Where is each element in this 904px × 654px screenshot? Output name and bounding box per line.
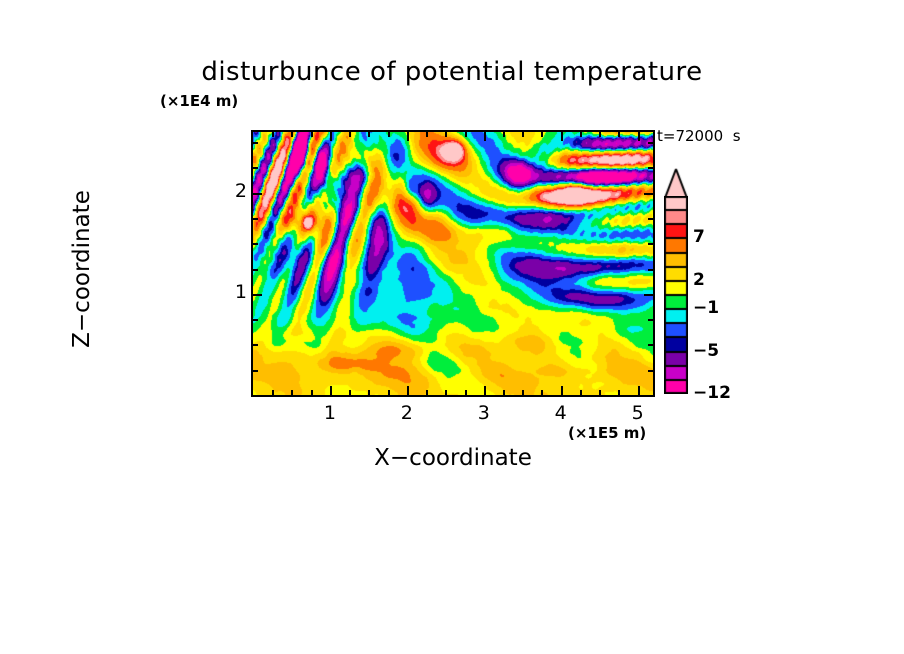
y-minor-tick (648, 167, 653, 169)
y-tick-label: 1 (217, 281, 247, 303)
y-axis-title: Z−coordinate (69, 149, 95, 389)
x-major-tick (484, 132, 486, 141)
colorbar-tick-label: −12 (693, 383, 731, 403)
y-minor-tick (648, 218, 653, 220)
y-minor-tick (253, 243, 258, 245)
x-minor-tick (291, 390, 293, 395)
timestamp-label: t=72000 s (657, 127, 741, 145)
y-minor-tick (253, 218, 258, 220)
x-major-tick (561, 132, 563, 141)
x-minor-tick (503, 390, 505, 395)
x-minor-tick (580, 390, 582, 395)
y-minor-tick (648, 142, 653, 144)
colorbar-tick-label: 2 (693, 270, 705, 290)
x-minor-tick (349, 132, 351, 137)
y-minor-tick (648, 269, 653, 271)
page-title: disturbunce of potential temperature (0, 57, 904, 87)
x-axis-title: X−coordinate (253, 445, 653, 471)
x-minor-tick (618, 390, 620, 395)
x-minor-tick (291, 132, 293, 137)
y-minor-tick (648, 319, 653, 321)
z-axis-unit-label: (×1E4 m) (160, 92, 238, 110)
x-minor-tick (618, 132, 620, 137)
x-minor-tick (388, 390, 390, 395)
colorbar (664, 196, 688, 394)
y-minor-tick (253, 142, 258, 144)
x-minor-tick (599, 390, 601, 395)
x-minor-tick (368, 132, 370, 137)
colorbar-tick-label: −5 (693, 341, 719, 361)
x-major-tick (638, 132, 640, 141)
x-minor-tick (445, 132, 447, 137)
colorbar-arrow-top (664, 168, 688, 198)
x-tick-label: 5 (618, 402, 658, 424)
x-minor-tick (503, 132, 505, 137)
x-minor-tick (522, 132, 524, 137)
x-minor-tick (349, 390, 351, 395)
y-major-tick (253, 294, 262, 296)
x-tick-label: 3 (464, 402, 504, 424)
x-minor-tick (426, 390, 428, 395)
x-minor-tick (580, 132, 582, 137)
y-minor-tick (253, 319, 258, 321)
x-major-tick (561, 386, 563, 395)
y-minor-tick (253, 344, 258, 346)
colorbar-tick-label: 7 (693, 227, 705, 247)
x-minor-tick (272, 132, 274, 137)
x-minor-tick (541, 132, 543, 137)
figure-canvas: disturbunce of potential temperature (×1… (0, 0, 904, 654)
colorbar-tick-label: −1 (693, 298, 719, 318)
y-minor-tick (253, 370, 258, 372)
x-minor-tick (311, 132, 313, 137)
x-minor-tick (465, 132, 467, 137)
x-minor-tick (599, 132, 601, 137)
x-major-tick (330, 386, 332, 395)
x-tick-label: 2 (387, 402, 427, 424)
x-minor-tick (445, 390, 447, 395)
x-minor-tick (311, 390, 313, 395)
y-tick-label: 2 (217, 180, 247, 202)
x-minor-tick (388, 132, 390, 137)
x-minor-tick (541, 390, 543, 395)
x-minor-tick (426, 132, 428, 137)
x-minor-tick (522, 390, 524, 395)
x-tick-label: 1 (310, 402, 350, 424)
x-tick-label: 4 (541, 402, 581, 424)
y-major-tick (644, 294, 653, 296)
y-major-tick (253, 193, 262, 195)
x-major-tick (407, 132, 409, 141)
y-minor-tick (648, 243, 653, 245)
y-minor-tick (648, 370, 653, 372)
x-major-tick (484, 386, 486, 395)
contour-field (253, 132, 653, 395)
x-major-tick (330, 132, 332, 141)
x-major-tick (407, 386, 409, 395)
y-minor-tick (253, 269, 258, 271)
x-major-tick (638, 386, 640, 395)
y-minor-tick (648, 344, 653, 346)
y-minor-tick (253, 167, 258, 169)
x-axis-unit-label: (×1E5 m) (568, 424, 646, 442)
y-major-tick (644, 193, 653, 195)
x-minor-tick (368, 390, 370, 395)
x-minor-tick (272, 390, 274, 395)
x-minor-tick (465, 390, 467, 395)
